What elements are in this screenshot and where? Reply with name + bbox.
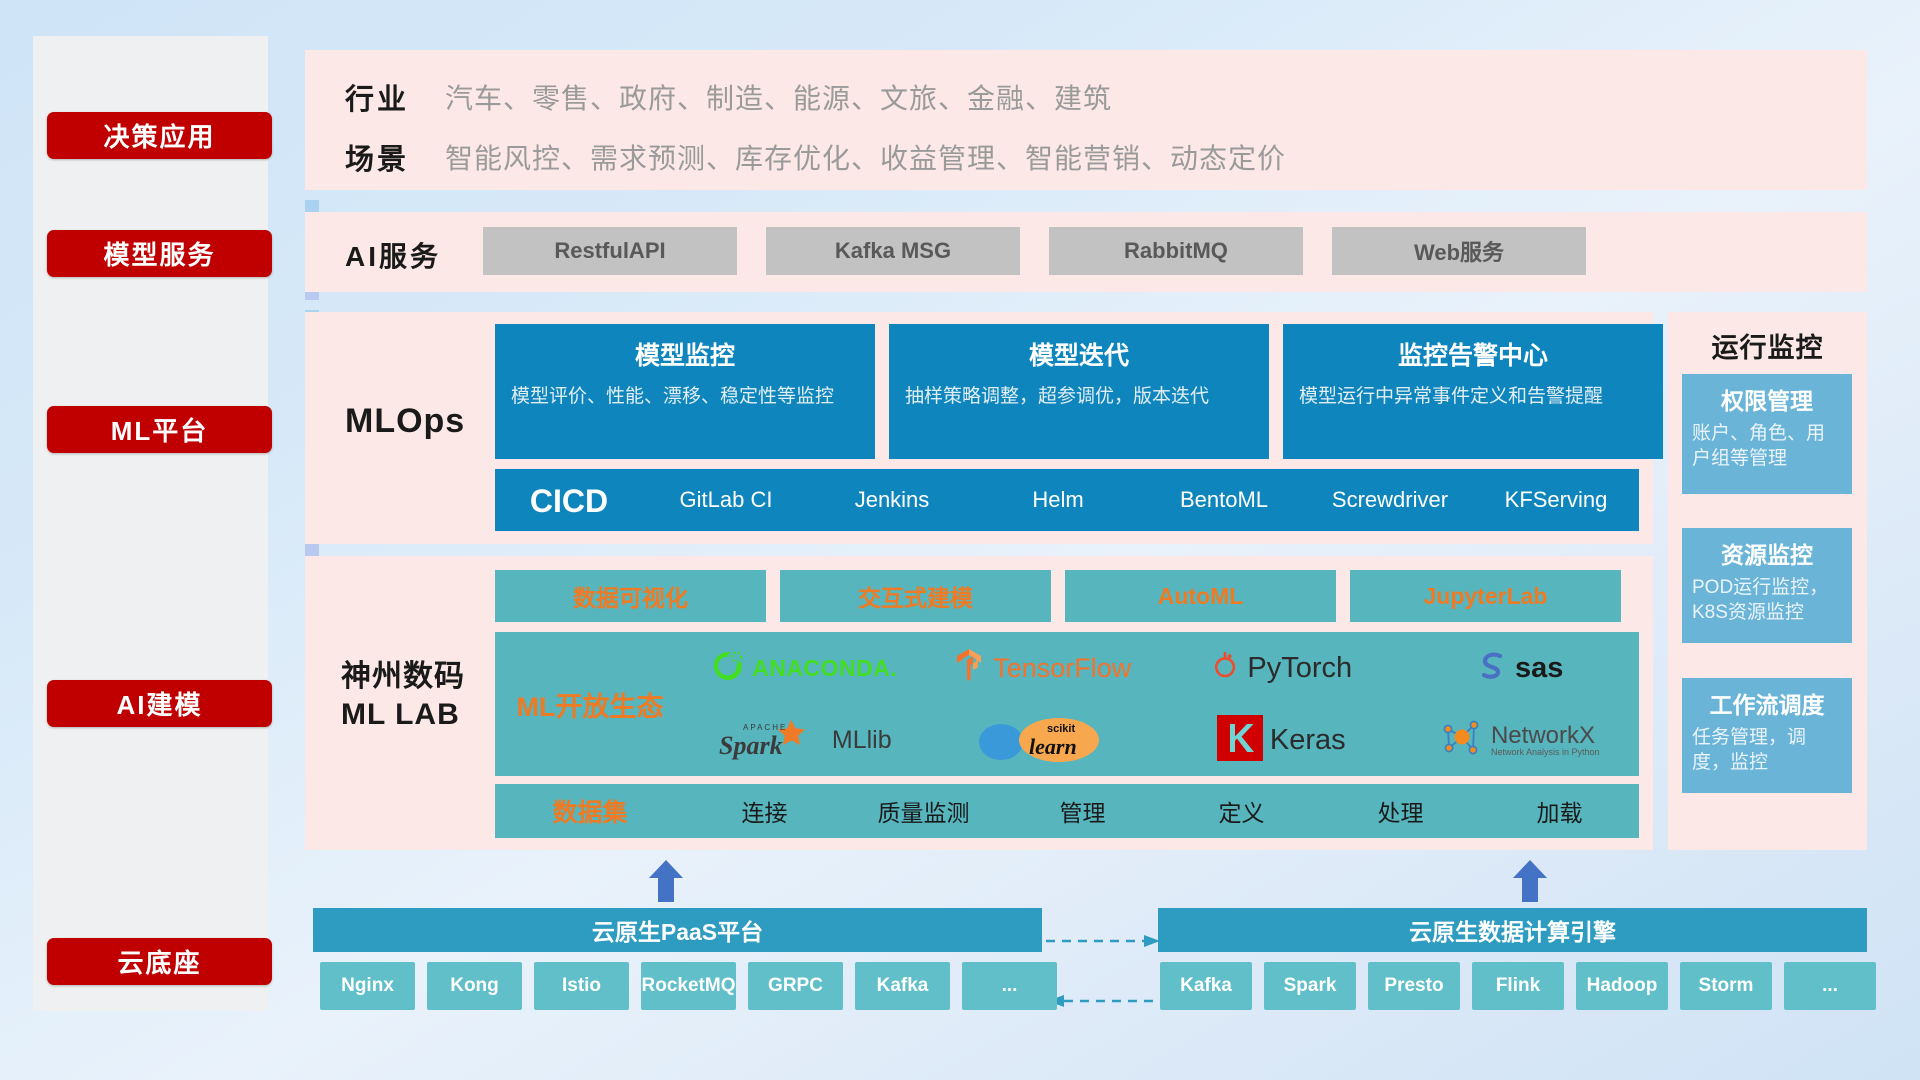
ai-service-panel: AI服务 RestfulAPI Kafka MSG RabbitMQ Web服务 xyxy=(305,212,1867,292)
cloud-chip-more-engine[interactable]: ... xyxy=(1784,962,1876,1010)
dashed-connector-left xyxy=(1046,990,1162,1017)
cicd-item-bentoml[interactable]: BentoML xyxy=(1141,469,1307,513)
dataset-item-connect[interactable]: 连接 xyxy=(685,794,844,828)
industry-scenario-panel: 行业 汽车、零售、政府、制造、能源、文旅、金融、建筑 场景 智能风控、需求预测、… xyxy=(305,50,1867,190)
keras-icon xyxy=(1217,715,1263,766)
cloud-chip-spark[interactable]: Spark xyxy=(1264,962,1356,1010)
cicd-item-helm[interactable]: Helm xyxy=(975,469,1141,513)
industry-label: 行业 xyxy=(345,76,409,118)
card-desc: 模型运行中异常事件定义和告警提醒 xyxy=(1299,384,1647,409)
sas-icon xyxy=(1476,649,1508,688)
brand-line-1: 神州数码 xyxy=(341,658,465,696)
tool-chip-interactive-modeling[interactable]: 交互式建模 xyxy=(780,570,1051,622)
cloud-chip-hadoop[interactable]: Hadoop xyxy=(1576,962,1668,1010)
apache-spark-icon: APACHE Spark xyxy=(717,718,825,762)
scenario-list: 智能风控、需求预测、库存优化、收益管理、智能营销、动态定价 xyxy=(445,137,1286,177)
arrow-up-icon xyxy=(1507,860,1553,902)
ai-service-label: AI服务 xyxy=(345,235,441,275)
mlops-label: MLOps xyxy=(345,402,465,441)
card-title: 模型迭代 xyxy=(905,336,1253,372)
ecosystem-logo-grid: ANACONDA. TensorFlow xyxy=(685,632,1639,776)
logo-text: PyTorch xyxy=(1247,652,1352,685)
cloud-data-engine-bar[interactable]: 云原生数据计算引擎 xyxy=(1158,908,1867,952)
logo-tensorflow[interactable]: TensorFlow xyxy=(954,648,1131,689)
svg-text:Spark: Spark xyxy=(719,731,783,760)
logo-networkx[interactable]: NetworkX Network Analysis in Python xyxy=(1440,716,1600,765)
cloud-chip-kong[interactable]: Kong xyxy=(427,962,522,1010)
mlops-card-model-monitoring[interactable]: 模型监控 模型评价、性能、漂移、稳定性等监控 xyxy=(495,324,875,459)
monitor-card-workflow[interactable]: 工作流调度 任务管理，调度，监控 xyxy=(1682,678,1852,793)
cicd-item-gitlab-ci[interactable]: GitLab CI xyxy=(643,469,809,513)
runtime-monitor-title: 运行监控 xyxy=(1668,326,1867,365)
logo-text: ANACONDA. xyxy=(752,655,897,682)
monitor-card-resource[interactable]: 资源监控 POD运行监控，K8S资源监控 xyxy=(1682,528,1852,643)
card-desc: 抽样策略调整，超参调优，版本迭代 xyxy=(905,384,1253,409)
logo-text: TensorFlow xyxy=(993,653,1131,684)
monitor-card-permission[interactable]: 权限管理 账户、角色、用户组等管理 xyxy=(1682,374,1852,494)
dashed-connector-right xyxy=(1046,930,1162,957)
dataset-item-quality-monitoring[interactable]: 质量监测 xyxy=(844,794,1003,828)
anaconda-icon xyxy=(711,649,745,688)
cloud-chip-kafka[interactable]: Kafka xyxy=(855,962,950,1010)
card-desc: 账户、角色、用户组等管理 xyxy=(1692,422,1842,471)
modeling-tool-list: 数据可视化 交互式建模 AutoML JupyterLab xyxy=(495,570,1621,622)
dataset-item-management[interactable]: 管理 xyxy=(1003,794,1162,828)
ai-modeling-panel: 神州数码 ML LAB 数据可视化 交互式建模 AutoML JupyterLa… xyxy=(305,556,1653,850)
cloud-chip-presto[interactable]: Presto xyxy=(1368,962,1460,1010)
cloud-chip-flink[interactable]: Flink xyxy=(1472,962,1564,1010)
layer-chip-model-service[interactable]: 模型服务 xyxy=(47,230,272,277)
cicd-item-screwdriver[interactable]: Screwdriver xyxy=(1307,469,1473,513)
cloud-engine-chip-list: Kafka Spark Presto Flink Hadoop Storm ..… xyxy=(1160,962,1876,1010)
cloud-chip-nginx[interactable]: Nginx xyxy=(320,962,415,1010)
cloud-chip-istio[interactable]: Istio xyxy=(534,962,629,1010)
brand-line-2: ML LAB xyxy=(341,696,465,734)
card-title: 模型监控 xyxy=(511,336,859,372)
dataset-item-loading[interactable]: 加载 xyxy=(1480,794,1639,828)
service-chip-kafka-msg[interactable]: Kafka MSG xyxy=(766,227,1020,275)
industry-list: 汽车、零售、政府、制造、能源、文旅、金融、建筑 xyxy=(445,77,1112,117)
mlops-card-list: 模型监控 模型评价、性能、漂移、稳定性等监控 模型迭代 抽样策略调整，超参调优，… xyxy=(495,324,1663,459)
cloud-chip-kafka-engine[interactable]: Kafka xyxy=(1160,962,1252,1010)
card-desc: 模型评价、性能、漂移、稳定性等监控 xyxy=(511,384,859,409)
scikit-learn-icon: scikit learn xyxy=(977,716,1109,764)
dataset-strip: 数据集 连接 质量监测 管理 定义 处理 加载 xyxy=(495,784,1639,838)
layer-chip-ai-modeling[interactable]: AI建模 xyxy=(47,680,272,727)
brand-label: 神州数码 ML LAB xyxy=(341,658,465,735)
tool-chip-data-visualization[interactable]: 数据可视化 xyxy=(495,570,766,622)
dataset-label: 数据集 xyxy=(495,793,685,829)
cicd-item-kfserving[interactable]: KFServing xyxy=(1473,469,1639,513)
tool-chip-jupyterlab[interactable]: JupyterLab xyxy=(1350,570,1621,622)
ml-ecosystem-label: ML开放生态 xyxy=(495,685,685,724)
cicd-label: CICD xyxy=(495,469,643,520)
mlops-panel: MLOps 模型监控 模型评价、性能、漂移、稳定性等监控 模型迭代 抽样策略调整… xyxy=(305,312,1653,544)
layer-chip-ml-platform[interactable]: ML平台 xyxy=(47,406,272,453)
logo-text: Keras xyxy=(1270,724,1346,757)
service-chip-restfulapi[interactable]: RestfulAPI xyxy=(483,227,737,275)
cloud-chip-rocketmq[interactable]: RocketMQ xyxy=(641,962,736,1010)
service-chip-rabbitmq[interactable]: RabbitMQ xyxy=(1049,227,1303,275)
card-title: 监控告警中心 xyxy=(1299,336,1647,372)
runtime-monitor-panel: 运行监控 权限管理 账户、角色、用户组等管理 资源监控 POD运行监控，K8S资… xyxy=(1668,312,1867,850)
networkx-icon xyxy=(1440,716,1484,765)
mlops-card-model-iteration[interactable]: 模型迭代 抽样策略调整，超参调优，版本迭代 xyxy=(889,324,1269,459)
layer-chip-cloud-base[interactable]: 云底座 xyxy=(47,938,272,985)
pytorch-icon xyxy=(1210,649,1240,688)
tool-chip-automl[interactable]: AutoML xyxy=(1065,570,1336,622)
logo-subtext: Network Analysis in Python xyxy=(1491,748,1600,757)
card-title: 权限管理 xyxy=(1692,382,1842,416)
dataset-item-processing[interactable]: 处理 xyxy=(1321,794,1480,828)
card-desc: 任务管理，调度，监控 xyxy=(1692,726,1842,775)
cicd-strip: CICD GitLab CI Jenkins Helm BentoML Scre… xyxy=(495,469,1639,531)
logo-text: NetworkX xyxy=(1491,723,1600,748)
service-chip-web-service[interactable]: Web服务 xyxy=(1332,227,1586,275)
cloud-paas-bar[interactable]: 云原生PaaS平台 xyxy=(313,908,1042,952)
cloud-chip-grpc[interactable]: GRPC xyxy=(748,962,843,1010)
layer-rail xyxy=(33,36,268,1011)
card-title: 资源监控 xyxy=(1692,536,1842,570)
cloud-chip-storm[interactable]: Storm xyxy=(1680,962,1772,1010)
cicd-item-jenkins[interactable]: Jenkins xyxy=(809,469,975,513)
logo-sas[interactable]: sas xyxy=(1476,649,1563,688)
card-title: 工作流调度 xyxy=(1692,686,1842,720)
svg-text:learn: learn xyxy=(1029,734,1077,759)
arrow-up-icon xyxy=(643,860,689,902)
tensorflow-icon xyxy=(954,648,986,689)
cloud-chip-more[interactable]: ... xyxy=(962,962,1057,1010)
dataset-item-definition[interactable]: 定义 xyxy=(1162,794,1321,828)
architecture-diagram: 决策应用 模型服务 ML平台 AI建模 云底座 行业 汽车、零售、政府、制造、能… xyxy=(0,0,1920,1080)
scenario-label: 场景 xyxy=(345,136,409,178)
logo-spark-mllib[interactable]: APACHE Spark MLlib xyxy=(717,718,892,762)
logo-pytorch[interactable]: PyTorch xyxy=(1210,649,1352,688)
logo-text: MLlib xyxy=(832,726,892,755)
logo-anaconda[interactable]: ANACONDA. xyxy=(711,649,897,688)
ml-ecosystem-strip: ML开放生态 ANACONDA. xyxy=(495,632,1639,776)
ai-service-list: RestfulAPI Kafka MSG RabbitMQ Web服务 xyxy=(483,227,1586,275)
logo-text: sas xyxy=(1515,652,1563,685)
card-desc: POD运行监控，K8S资源监控 xyxy=(1692,576,1842,625)
layer-chip-decision-app[interactable]: 决策应用 xyxy=(47,112,272,159)
mlops-card-alert-center[interactable]: 监控告警中心 模型运行中异常事件定义和告警提醒 xyxy=(1283,324,1663,459)
logo-scikit-learn[interactable]: scikit learn xyxy=(977,716,1109,764)
cloud-paas-chip-list: Nginx Kong Istio RocketMQ GRPC Kafka ... xyxy=(320,962,1057,1010)
logo-keras[interactable]: Keras xyxy=(1217,715,1346,766)
